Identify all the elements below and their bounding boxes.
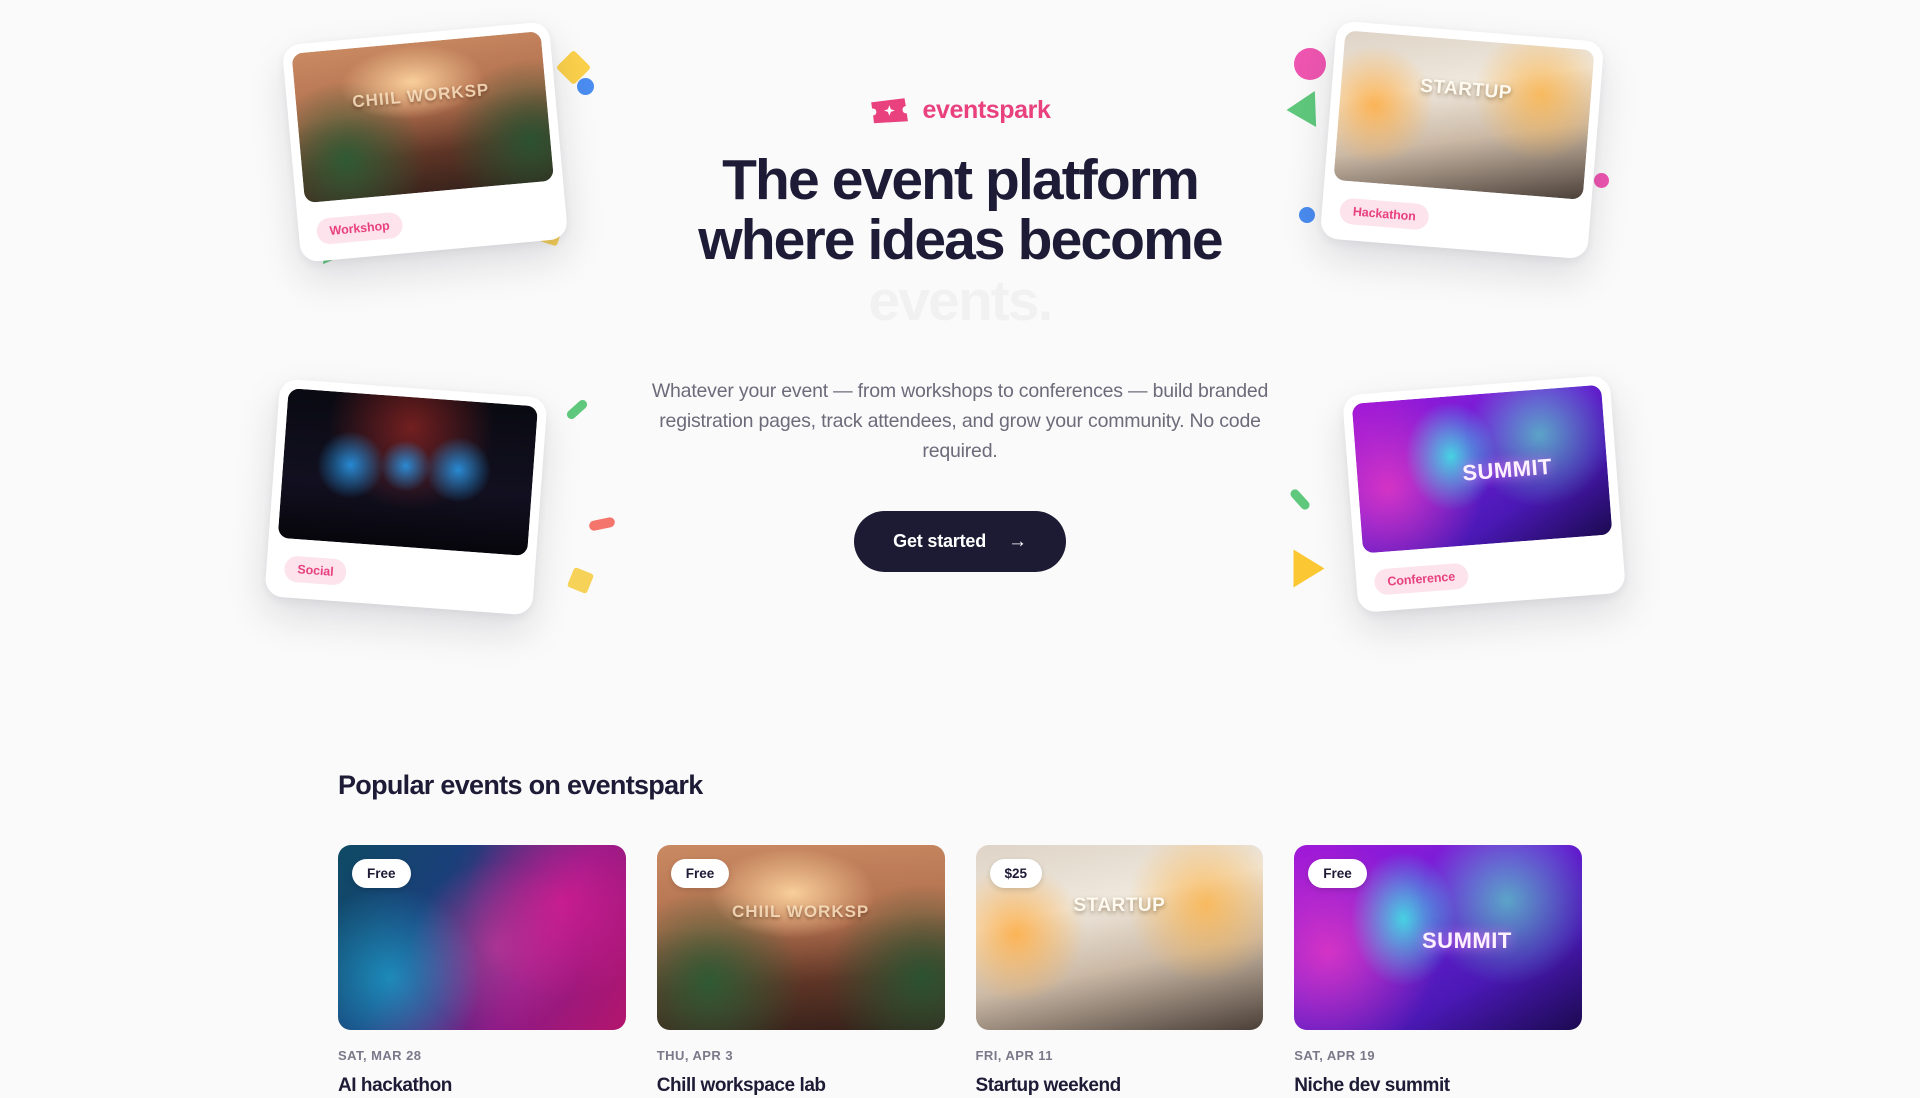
confetti-dot-magenta (1294, 48, 1326, 80)
confetti-dot-pink-small-right (1594, 173, 1609, 188)
get-started-label: Get started (893, 531, 986, 552)
floating-card-social[interactable]: Social (264, 378, 547, 615)
event-date: SAT, APR 19 (1294, 1048, 1582, 1063)
brand-name: eventspark (922, 96, 1050, 125)
event-card[interactable]: Free THU, APR 3 Chill workspace lab (657, 845, 945, 1098)
event-card-thumbnail: Free (1294, 845, 1582, 1030)
event-price-badge: Free (352, 859, 411, 888)
floating-card-badge-hackathon: Hackathon (1339, 197, 1430, 230)
event-date: SAT, MAR 28 (338, 1048, 626, 1063)
event-price-badge: Free (671, 859, 730, 888)
floating-card-conference[interactable]: Conference (1342, 375, 1626, 613)
hero-subheading: Whatever your event — from workshops to … (600, 377, 1320, 466)
section-title: Popular events on eventspark (338, 770, 1582, 801)
event-date: THU, APR 3 (657, 1048, 945, 1063)
event-title: Chill workspace lab (657, 1074, 945, 1098)
event-title: Startup weekend (976, 1074, 1264, 1098)
floating-card-badge-conference: Conference (1373, 562, 1468, 595)
floating-card-badge-workshop: Workshop (316, 211, 404, 245)
headline-line-1: The event platform (722, 148, 1198, 212)
event-card-thumbnail: Free (657, 845, 945, 1030)
floating-card-image-workshop (291, 31, 554, 203)
ticket-sparkle-icon (869, 97, 909, 124)
confetti-square-yellow (567, 567, 594, 594)
hero-content: eventspark The event platform where idea… (600, 96, 1320, 572)
event-card-grid: Free SAT, MAR 28 AI hackathon Free THU, … (338, 845, 1582, 1098)
get-started-button[interactable]: Get started → (854, 511, 1066, 572)
brand-logo[interactable]: eventspark (600, 96, 1320, 125)
event-title: Niche dev summit (1294, 1074, 1582, 1098)
confetti-bar-green (565, 398, 589, 421)
event-price-badge: Free (1308, 859, 1367, 888)
event-card[interactable]: Free SAT, APR 19 Niche dev summit (1294, 845, 1582, 1098)
headline-line-3: events. (600, 271, 1320, 331)
event-card-thumbnail: Free (338, 845, 626, 1030)
hero-section: Workshop Hackathon Social Conference (0, 0, 1920, 735)
arrow-right-icon: → (1008, 532, 1027, 551)
floating-card-hackathon[interactable]: Hackathon (1320, 21, 1605, 260)
confetti-dot-blue (577, 78, 594, 95)
event-card-thumbnail: $25 (976, 845, 1264, 1030)
floating-card-image-conference (1352, 385, 1613, 554)
headline-line-2: where ideas become (698, 208, 1221, 272)
popular-events-section: Popular events on eventspark Free SAT, M… (0, 770, 1920, 1098)
event-title: AI hackathon (338, 1074, 626, 1098)
floating-card-workshop[interactable]: Workshop (282, 21, 569, 262)
page-title: The event platform where ideas become ev… (600, 150, 1320, 331)
event-price-badge: $25 (990, 859, 1043, 888)
floating-card-image-social (278, 388, 538, 556)
event-card[interactable]: $25 FRI, APR 11 Startup weekend (976, 845, 1264, 1098)
event-card[interactable]: Free SAT, MAR 28 AI hackathon (338, 845, 626, 1098)
floating-card-badge-social: Social (284, 555, 348, 585)
floating-card-image-hackathon (1333, 30, 1594, 200)
cta-container: Get started → (600, 511, 1320, 572)
event-date: FRI, APR 11 (976, 1048, 1264, 1063)
